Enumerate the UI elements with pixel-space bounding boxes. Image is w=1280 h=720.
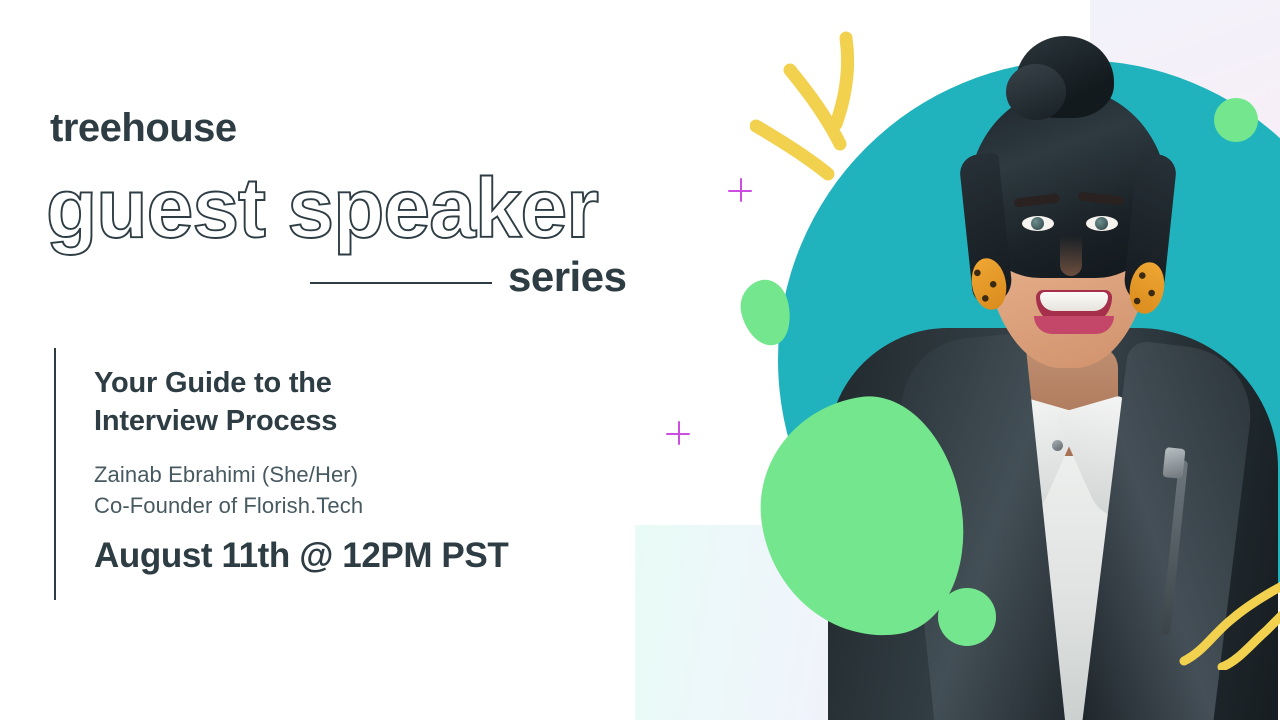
series-divider-rule: [310, 282, 492, 284]
green-dot-bottom: [938, 588, 996, 646]
headline-text: guest speaker: [46, 161, 598, 255]
yellow-sparkle-icon: [750, 30, 900, 200]
hair-bun-secondary: [1006, 64, 1066, 120]
iris-left: [1031, 217, 1044, 230]
promo-graphic-canvas: treehouse guest speaker series Your Guid…: [0, 0, 1280, 720]
event-info-block: Your Guide to the Interview Process Zain…: [54, 348, 614, 600]
series-label: series: [508, 256, 626, 298]
talk-title-line-2: Interview Process: [94, 405, 337, 437]
magenta-plus-icon: [728, 178, 752, 202]
zipper-pull: [1162, 447, 1185, 479]
speaker-name: Zainab Ebrahimi (She/Her): [94, 459, 614, 490]
teeth: [1040, 292, 1108, 311]
green-dot-top-right: [1214, 98, 1258, 142]
jacket-stud: [1052, 440, 1063, 451]
iris-right: [1095, 217, 1108, 230]
yellow-squiggle-icon: [1170, 575, 1280, 670]
speaker-role: Co-Founder of Florish.Tech: [94, 490, 614, 521]
talk-title-line-1: Your Guide to the: [94, 367, 332, 399]
magenta-plus-icon: [666, 421, 690, 445]
lower-lip: [1034, 316, 1114, 334]
talk-title: Your Guide to the Interview Process: [94, 364, 614, 441]
headline-guest-speaker: guest speaker: [44, 155, 684, 263]
brand-wordmark: treehouse: [50, 108, 237, 148]
event-date-time: August 11th @ 12PM PST: [94, 537, 614, 576]
nose: [1060, 236, 1082, 276]
